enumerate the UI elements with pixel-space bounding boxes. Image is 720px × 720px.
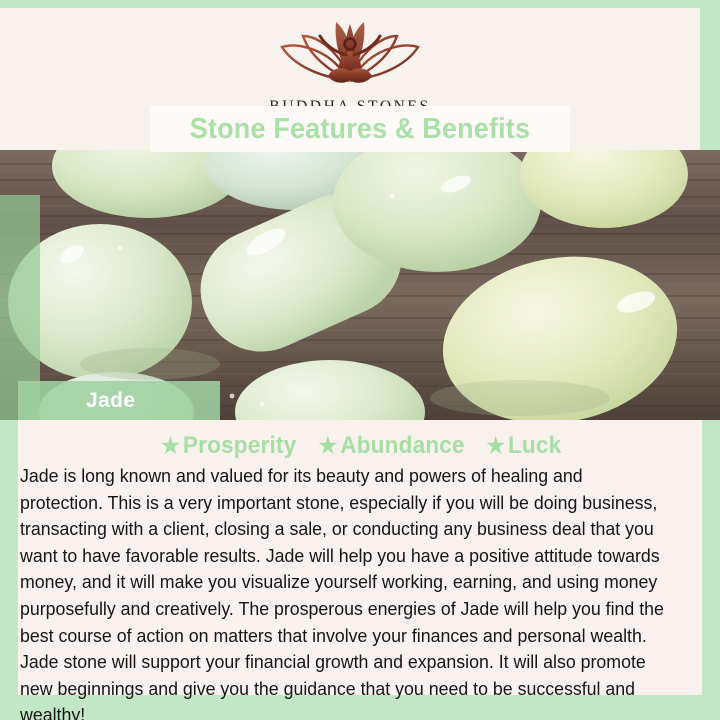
lotus-meditation-icon (0, 14, 700, 97)
stone-info-card: BUDDHA STONES Stone Features & Benefits (0, 0, 720, 720)
star-icon: ★ (486, 433, 505, 458)
star-icon: ★ (319, 433, 338, 458)
benefit-label: Luck (508, 432, 561, 459)
benefit-label: Prosperity (182, 432, 295, 459)
benefit-item: ★Abundance (319, 432, 465, 460)
page-title: Stone Features & Benefits (190, 113, 530, 146)
jade-tumbled-stones-photo (0, 150, 720, 420)
benefits-list: ★Prosperity★Abundance★Luck (18, 432, 702, 460)
stone-description: Jade is long known and valued for its be… (20, 463, 669, 720)
top-right-green-edge (700, 0, 720, 150)
body-left-green-rail (0, 420, 18, 695)
star-icon: ★ (161, 433, 180, 458)
brand-logo: BUDDHA STONES (0, 14, 700, 116)
benefit-item: ★Prosperity (161, 432, 296, 460)
top-green-edge (0, 0, 720, 8)
stone-name-band: Jade (18, 381, 220, 420)
stone-name: Jade (86, 389, 135, 413)
benefit-label: Abundance (340, 432, 465, 459)
body-panel: ★Prosperity★Abundance★Luck Jade is long … (18, 420, 702, 695)
title-banner: Stone Features & Benefits (150, 106, 570, 152)
benefit-item: ★Luck (486, 432, 561, 460)
